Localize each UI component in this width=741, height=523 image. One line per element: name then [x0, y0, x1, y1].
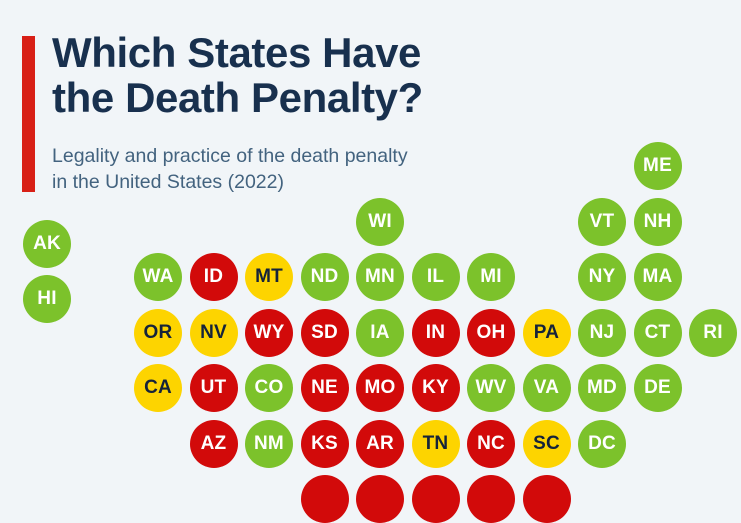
state-tile-wv[interactable]: WV: [467, 364, 515, 412]
state-tile-tn[interactable]: TN: [412, 420, 460, 468]
state-tile-label: NH: [644, 211, 672, 233]
state-tile-co[interactable]: CO: [245, 364, 293, 412]
state-tile-wa[interactable]: WA: [134, 253, 182, 301]
state-tile-label: MI: [480, 266, 502, 288]
state-tile-label: DC: [588, 433, 616, 455]
state-tile-label: ID: [204, 266, 223, 288]
state-tile-label: WA: [142, 266, 173, 288]
state-tile-de[interactable]: DE: [634, 364, 682, 412]
state-tile-label: KS: [311, 433, 338, 455]
state-tile-il[interactable]: IL: [412, 253, 460, 301]
state-tile[interactable]: [467, 475, 515, 523]
state-tile-label: IN: [426, 322, 445, 344]
state-tile-nj[interactable]: NJ: [578, 309, 626, 357]
state-tile-label: CO: [255, 377, 284, 399]
state-tile[interactable]: [356, 475, 404, 523]
state-tile-ri[interactable]: RI: [689, 309, 737, 357]
state-tile-label: NJ: [590, 322, 615, 344]
state-tile-in[interactable]: IN: [412, 309, 460, 357]
state-tile-label: KY: [422, 377, 449, 399]
state-tile-sd[interactable]: SD: [301, 309, 349, 357]
state-tile-wi[interactable]: WI: [356, 198, 404, 246]
state-tile-label: VA: [534, 377, 559, 399]
state-tile-ks[interactable]: KS: [301, 420, 349, 468]
state-tile-label: IA: [370, 322, 389, 344]
state-tile-grid-map: MEVTNHWIAKHIWAIDMTNDMNILMINYMAORNVWYSDIA…: [0, 0, 741, 486]
state-tile-label: ND: [311, 266, 339, 288]
state-tile-id[interactable]: ID: [190, 253, 238, 301]
state-tile-label: AR: [366, 433, 394, 455]
state-tile-label: NM: [254, 433, 284, 455]
state-tile-label: CA: [144, 377, 172, 399]
state-tile[interactable]: [412, 475, 460, 523]
state-tile-label: WY: [253, 322, 284, 344]
state-tile-label: MA: [643, 266, 673, 288]
state-tile-hi[interactable]: HI: [23, 275, 71, 323]
state-tile[interactable]: [523, 475, 571, 523]
state-tile-label: MN: [365, 266, 395, 288]
state-tile-label: PA: [534, 322, 559, 344]
state-tile-ct[interactable]: CT: [634, 309, 682, 357]
state-tile-sc[interactable]: SC: [523, 420, 571, 468]
state-tile-label: WI: [368, 211, 392, 233]
state-tile-label: RI: [703, 322, 722, 344]
state-tile-label: TN: [423, 433, 449, 455]
state-tile-oh[interactable]: OH: [467, 309, 515, 357]
state-tile-label: NY: [589, 266, 616, 288]
state-tile-ne[interactable]: NE: [301, 364, 349, 412]
state-tile-label: ME: [643, 155, 672, 177]
state-tile-or[interactable]: OR: [134, 309, 182, 357]
state-tile-ia[interactable]: IA: [356, 309, 404, 357]
state-tile-va[interactable]: VA: [523, 364, 571, 412]
state-tile-md[interactable]: MD: [578, 364, 626, 412]
state-tile-label: DE: [644, 377, 671, 399]
state-tile-label: CT: [645, 322, 671, 344]
state-tile-mo[interactable]: MO: [356, 364, 404, 412]
state-tile-dc[interactable]: DC: [578, 420, 626, 468]
state-tile-nm[interactable]: NM: [245, 420, 293, 468]
state-tile-nh[interactable]: NH: [634, 198, 682, 246]
state-tile-label: VT: [590, 211, 615, 233]
state-tile-label: AK: [33, 233, 61, 255]
state-tile-label: AZ: [201, 433, 227, 455]
state-tile[interactable]: [301, 475, 349, 523]
state-tile-label: MD: [587, 377, 617, 399]
state-tile-ca[interactable]: CA: [134, 364, 182, 412]
state-tile-label: NV: [200, 322, 227, 344]
state-tile-label: NC: [477, 433, 505, 455]
state-tile-nc[interactable]: NC: [467, 420, 515, 468]
state-tile-label: SD: [311, 322, 338, 344]
state-tile-label: HI: [37, 288, 56, 310]
state-tile-label: NE: [311, 377, 338, 399]
state-tile-ar[interactable]: AR: [356, 420, 404, 468]
state-tile-ny[interactable]: NY: [578, 253, 626, 301]
state-tile-me[interactable]: ME: [634, 142, 682, 190]
state-tile-ky[interactable]: KY: [412, 364, 460, 412]
state-tile-label: SC: [533, 433, 560, 455]
state-tile-nv[interactable]: NV: [190, 309, 238, 357]
state-tile-ma[interactable]: MA: [634, 253, 682, 301]
state-tile-label: UT: [201, 377, 227, 399]
state-tile-wy[interactable]: WY: [245, 309, 293, 357]
state-tile-mi[interactable]: MI: [467, 253, 515, 301]
state-tile-mt[interactable]: MT: [245, 253, 293, 301]
state-tile-label: OH: [477, 322, 506, 344]
state-tile-pa[interactable]: PA: [523, 309, 571, 357]
state-tile-label: OR: [144, 322, 173, 344]
state-tile-label: MT: [255, 266, 283, 288]
state-tile-ak[interactable]: AK: [23, 220, 71, 268]
state-tile-az[interactable]: AZ: [190, 420, 238, 468]
state-tile-label: WV: [475, 377, 506, 399]
state-tile-label: IL: [427, 266, 444, 288]
state-tile-nd[interactable]: ND: [301, 253, 349, 301]
state-tile-mn[interactable]: MN: [356, 253, 404, 301]
state-tile-ut[interactable]: UT: [190, 364, 238, 412]
state-tile-vt[interactable]: VT: [578, 198, 626, 246]
state-tile-label: MO: [364, 377, 395, 399]
